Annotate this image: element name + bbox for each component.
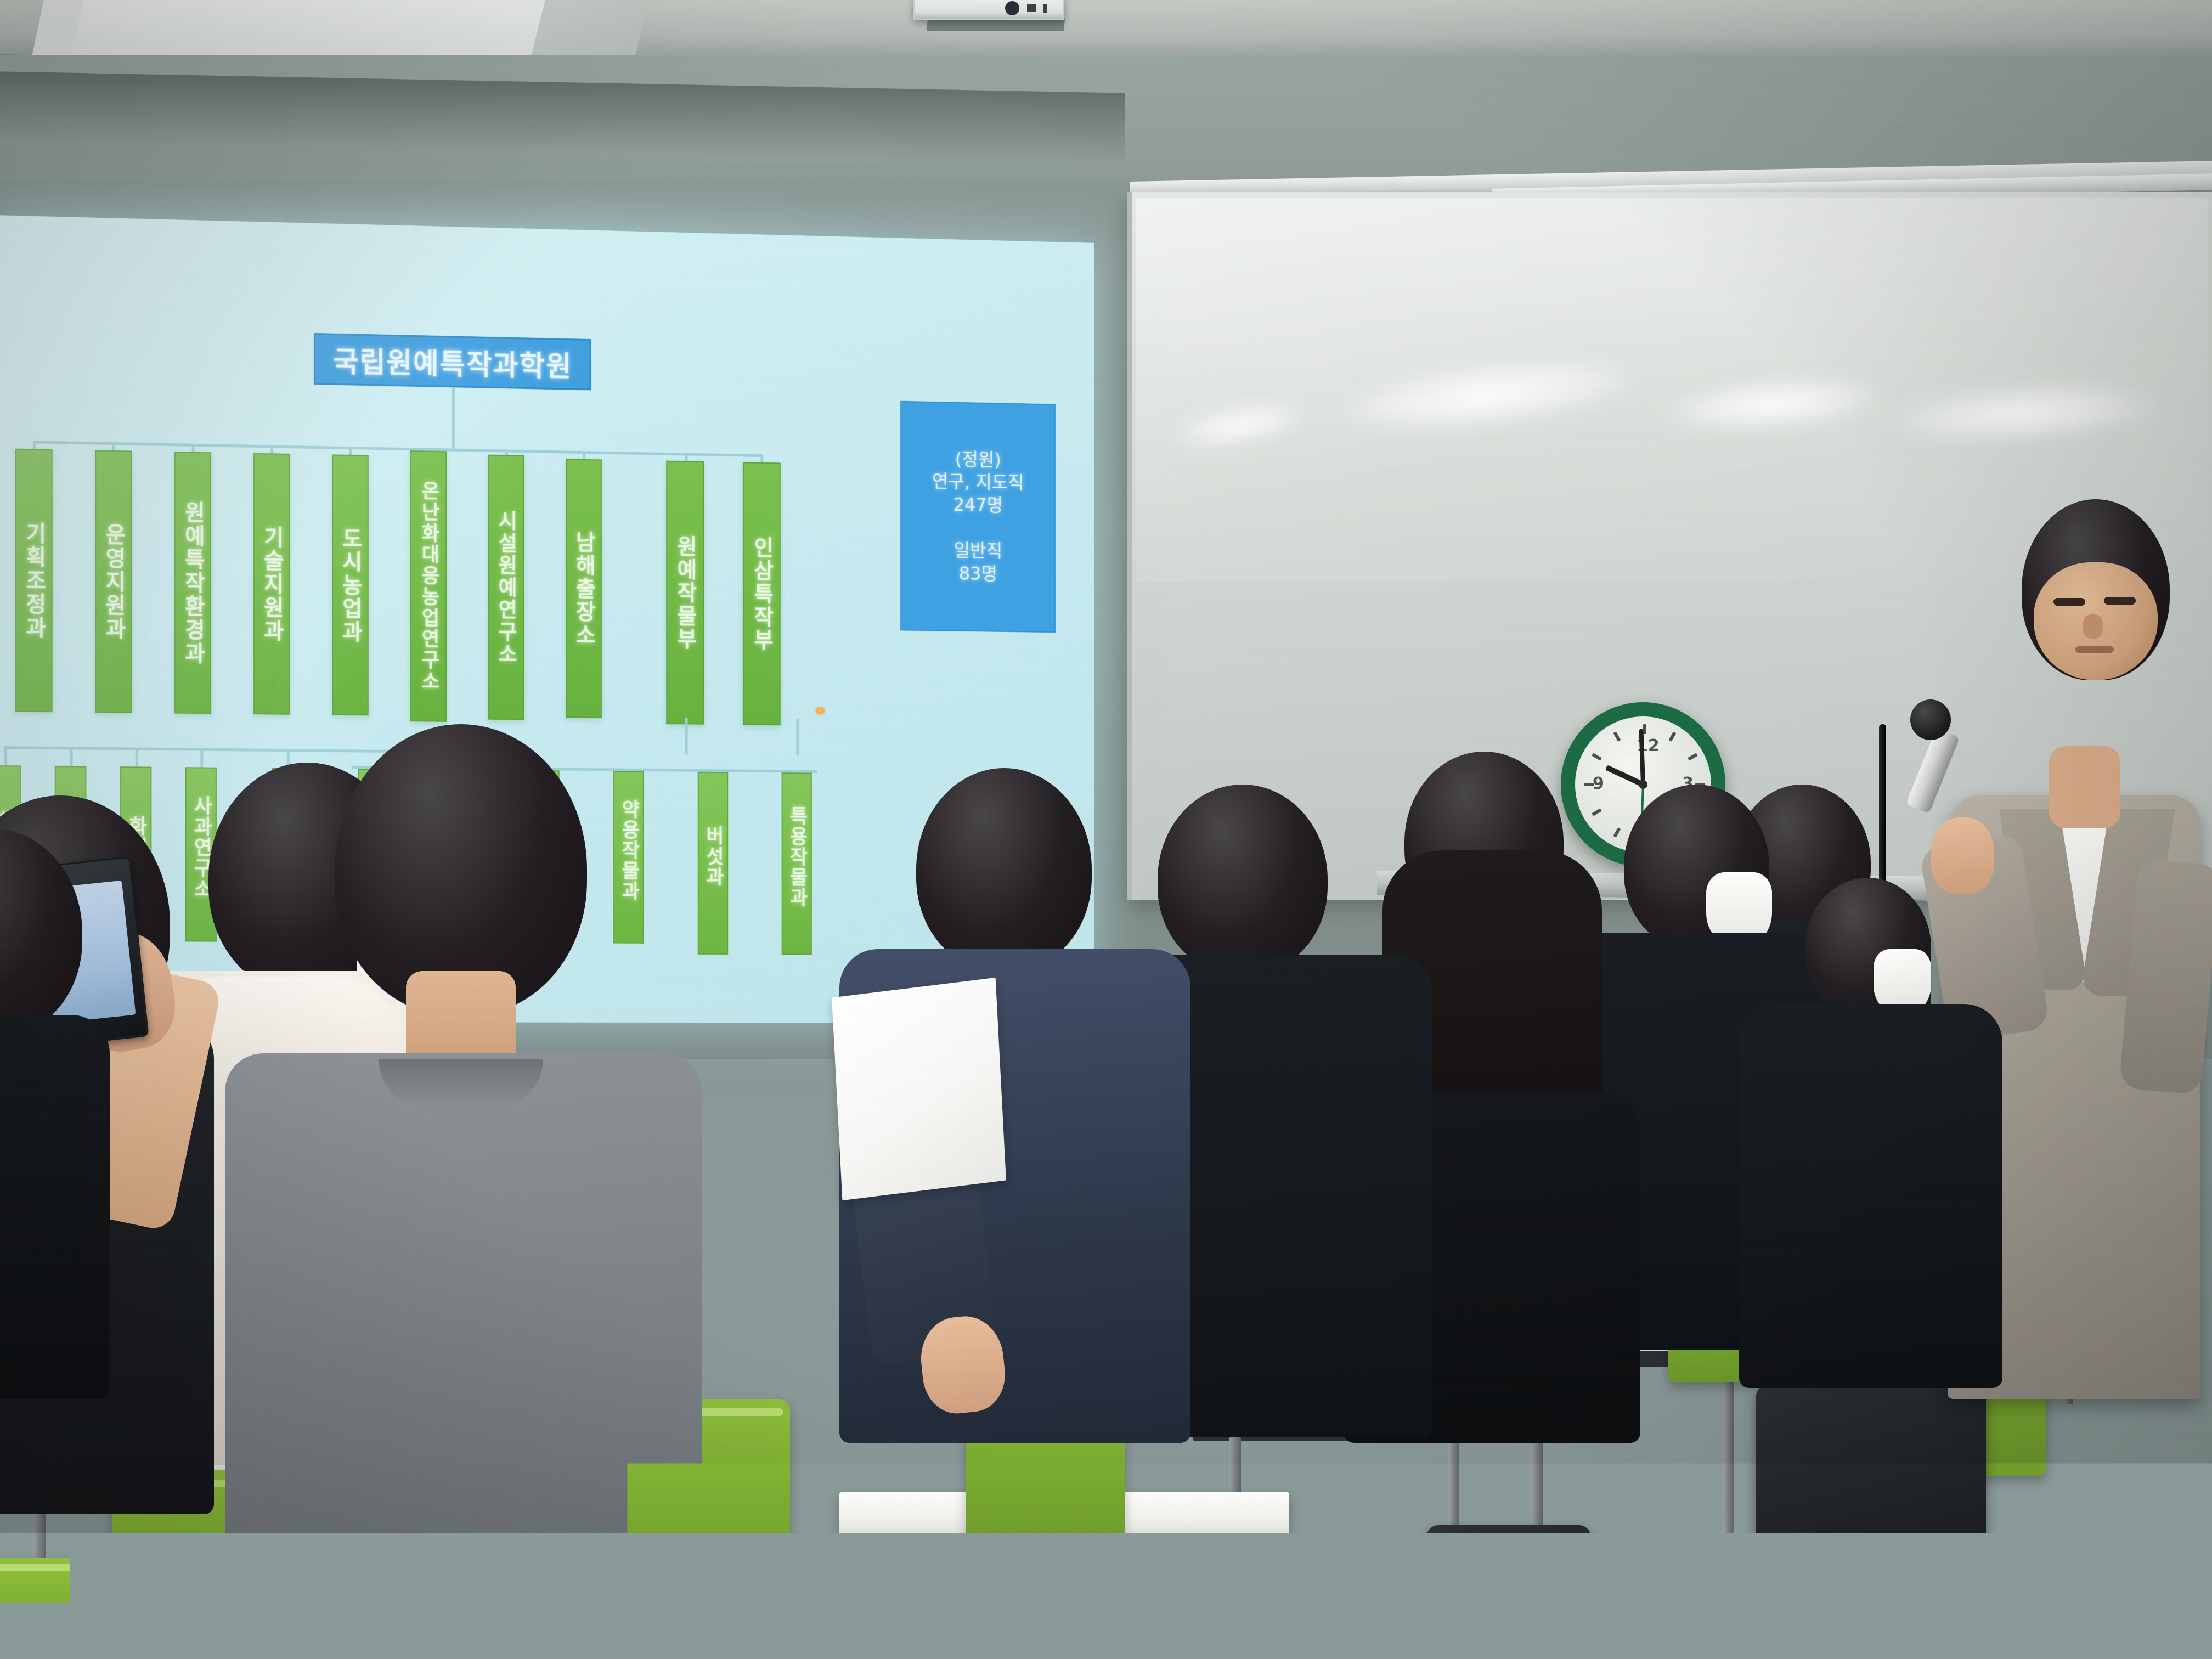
org-dept-box: 인삼특작부 <box>743 462 781 725</box>
org-dept-box: 운영지원과 <box>95 450 132 713</box>
org-subdept-box: 버섯과 <box>698 772 729 955</box>
connector-vertical-main <box>452 387 455 450</box>
org-headcount-info-box: (정원) 연구, 지도직 247명 일반직 83명 <box>900 401 1056 633</box>
org-dept-box: 온난화대응농업연구소 <box>410 450 447 722</box>
chair <box>0 1558 143 1659</box>
connector-vertical-sub-b <box>796 719 799 755</box>
org-dept-box: 기술지원과 <box>253 453 290 715</box>
presenter-hand <box>1931 817 1994 894</box>
org-dept-box: 도시농업과 <box>332 454 369 715</box>
projector-port-icon <box>1043 4 1047 13</box>
ceiling-projector <box>913 0 1064 20</box>
org-dept-box: 시설원예연구소 <box>488 455 524 720</box>
laser-pointer-dot <box>815 707 826 715</box>
paper-handout <box>832 978 1006 1200</box>
projector-shadow <box>927 19 1065 31</box>
ceiling-light-fixture <box>69 0 545 60</box>
chair-asset-tag <box>134 1553 199 1578</box>
org-dept-box: 원예작물부 <box>666 461 704 725</box>
clock-center-pin <box>1639 780 1647 789</box>
gray-tshirt <box>225 1053 702 1659</box>
microphone-head-icon <box>1910 699 1951 740</box>
bag <box>1426 1525 1591 1659</box>
org-dept-box: 남해출장소 <box>566 459 602 718</box>
connector-vertical-sub-a <box>685 718 688 755</box>
presenter-head <box>2022 499 2170 680</box>
org-dept-box: 기획조정과 <box>15 449 53 712</box>
org-dept-box: 원예특작환경과 <box>174 452 211 714</box>
lecture-hall-photo: 12 3 6 9 국립원예특작과학원 <box>0 0 2212 1659</box>
projector-knob-icon <box>1027 4 1036 12</box>
org-subdept-box: 약용작물과 <box>613 771 644 943</box>
org-root-node: 국립원예특작과학원 <box>314 333 591 390</box>
connector-horizontal-main <box>33 441 761 457</box>
collar <box>379 1059 543 1108</box>
backpack <box>1756 1383 1986 1657</box>
projector-lens-icon <box>1005 1 1019 15</box>
org-subdept-box: 특용작물과 <box>782 772 812 955</box>
